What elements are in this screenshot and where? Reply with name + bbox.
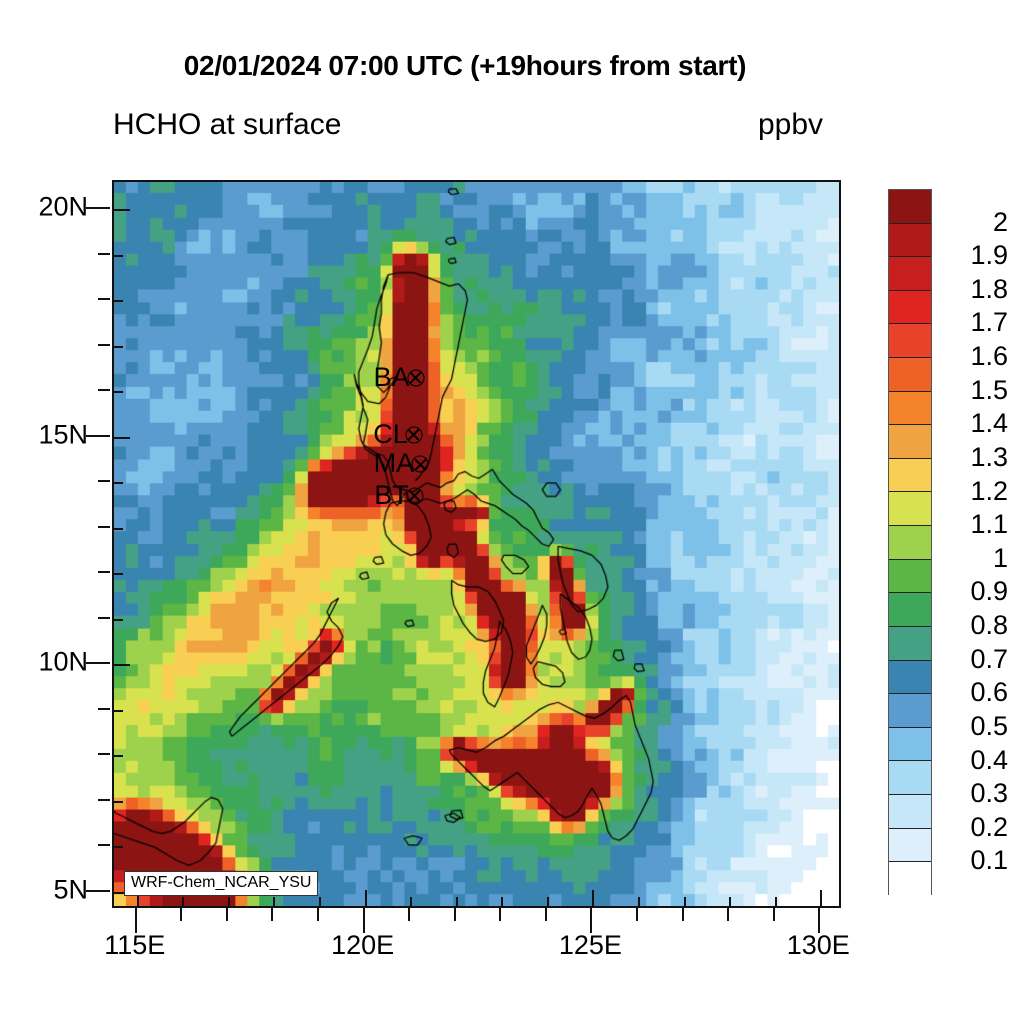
axis-tick [114, 801, 123, 803]
axis-tick [682, 908, 684, 921]
axis-tick [114, 437, 130, 439]
axis-tick [114, 755, 123, 757]
axis-tick [86, 662, 110, 664]
colorbar-band [889, 627, 931, 661]
axis-tick [114, 391, 123, 393]
axis-tick [114, 209, 130, 211]
axis-tick [114, 619, 123, 621]
axis-tick [98, 799, 110, 801]
colorbar-band [889, 829, 931, 863]
y-axis-tick-label: 15N [38, 419, 88, 450]
axis-tick [590, 908, 592, 933]
colorbar-tick-label: 0.2 [934, 812, 1008, 843]
map-plot-area[interactable]: BACLMABT WRF-Chem_NCAR_YSU [112, 180, 841, 908]
axis-tick [98, 344, 110, 346]
x-axis-labels: 115E120E125E130E [0, 930, 1024, 990]
axis-tick [98, 253, 110, 255]
x-axis-tick-label: 120E [331, 930, 394, 961]
colorbar-band [889, 190, 931, 224]
colorbar-band [889, 324, 931, 358]
colorbar-tick-label: 1.3 [934, 442, 1008, 473]
colorbar-tick-label: 0.9 [934, 576, 1008, 607]
axis-tick [182, 897, 184, 906]
axis-tick [180, 908, 182, 921]
colorbar-tick-label: 0.8 [934, 610, 1008, 641]
axis-tick [636, 908, 638, 921]
x-axis-tick-label: 125E [559, 930, 622, 961]
colorbar-band [889, 492, 931, 526]
colorbar-tick-label: 1.2 [934, 475, 1008, 506]
axis-tick [501, 897, 503, 906]
colorbar-tick-label: 1.1 [934, 509, 1008, 540]
colorbar-band [889, 291, 931, 325]
axis-tick [98, 480, 110, 482]
axis-tick [114, 710, 123, 712]
colorbar-tick-label: 1.4 [934, 408, 1008, 439]
axis-tick [114, 528, 123, 530]
x-axis-tick-label: 115E [104, 930, 165, 961]
axis-tick [98, 708, 110, 710]
colorbar-band [889, 761, 931, 795]
colorbar-band [889, 257, 931, 291]
axis-tick [114, 346, 123, 348]
axis-tick [317, 908, 319, 921]
colorbar-tick-label: 1.6 [934, 341, 1008, 372]
axis-tick [114, 255, 123, 257]
y-axis-labels: 5N10N15N20N [0, 0, 88, 1024]
model-watermark: WRF-Chem_NCAR_YSU [124, 871, 318, 896]
colorbar-tick-label: 1 [934, 543, 1008, 574]
colorbar-tick-label: 0.3 [934, 778, 1008, 809]
colorbar-tick-label: 0.5 [934, 711, 1008, 742]
colorbar-band [889, 593, 931, 627]
y-axis-tick-label: 20N [38, 192, 88, 223]
axis-tick [456, 897, 458, 906]
axis-tick [114, 573, 123, 575]
colorbar-band [889, 728, 931, 762]
axis-tick [773, 908, 775, 921]
axis-tick [114, 846, 123, 848]
axis-tick [98, 844, 110, 846]
colorbar-band [889, 862, 931, 896]
axis-tick [114, 482, 123, 484]
colorbar-labels: 21.91.81.71.61.51.41.31.21.110.90.80.70.… [934, 189, 1020, 895]
axis-tick [98, 389, 110, 391]
colorbar-band [889, 459, 931, 493]
axis-tick [114, 664, 130, 666]
axis-tick [135, 908, 137, 933]
axis-tick [86, 890, 110, 892]
colorbar-band [889, 224, 931, 258]
axis-tick [592, 890, 594, 906]
colorbar-band [889, 795, 931, 829]
axis-tick [273, 897, 275, 906]
axis-tick [98, 753, 110, 755]
axis-tick [86, 435, 110, 437]
colorbar-band [889, 392, 931, 426]
axis-tick [98, 526, 110, 528]
colorbar-tick-label: 1.5 [934, 375, 1008, 406]
y-axis-tick-label: 5N [53, 874, 88, 905]
axis-tick [226, 908, 228, 921]
unit-label: ppbv [758, 108, 823, 142]
axis-tick [684, 897, 686, 906]
axis-tick [114, 300, 123, 302]
colorbar-band [889, 694, 931, 728]
colorbar-band [889, 560, 931, 594]
axis-tick [319, 897, 321, 906]
colorbar-tick-label: 1.7 [934, 307, 1008, 338]
coastline-overlay [114, 182, 839, 906]
axis-tick [820, 890, 822, 906]
colorbar-tick-label: 2 [934, 206, 1008, 237]
colorbar-tick-label: 0.4 [934, 744, 1008, 775]
axis-tick [271, 908, 273, 921]
colorbar-band [889, 358, 931, 392]
axis-tick [410, 897, 412, 906]
axis-tick [98, 571, 110, 573]
axis-tick [365, 890, 367, 906]
axis-tick [98, 617, 110, 619]
colorbar-tick-label: 0.1 [934, 845, 1008, 876]
axis-tick [363, 908, 365, 933]
axis-tick [408, 908, 410, 921]
axis-tick [638, 897, 640, 906]
colorbar-band [889, 526, 931, 560]
axis-tick [775, 897, 777, 906]
axis-tick [729, 897, 731, 906]
y-axis-tick-label: 10N [38, 647, 88, 678]
colorbar-tick-label: 0.6 [934, 677, 1008, 708]
colorbar-tick-label: 1.9 [934, 240, 1008, 271]
colorbar [888, 189, 932, 895]
variable-label: HCHO at surface [113, 108, 341, 142]
colorbar-tick-label: 0.7 [934, 644, 1008, 675]
x-axis-tick-label: 130E [787, 930, 850, 961]
axis-tick [98, 298, 110, 300]
colorbar-tick-label: 1.8 [934, 274, 1008, 305]
axis-tick [818, 908, 820, 933]
axis-tick [547, 897, 549, 906]
axis-tick [228, 897, 230, 906]
axis-tick [454, 908, 456, 921]
axis-tick [499, 908, 501, 921]
page-title: 02/01/2024 07:00 UTC (+19hours from star… [0, 50, 930, 82]
colorbar-band [889, 425, 931, 459]
axis-tick [727, 908, 729, 921]
colorbar-band [889, 661, 931, 695]
axis-tick [86, 207, 110, 209]
axis-tick [545, 908, 547, 921]
